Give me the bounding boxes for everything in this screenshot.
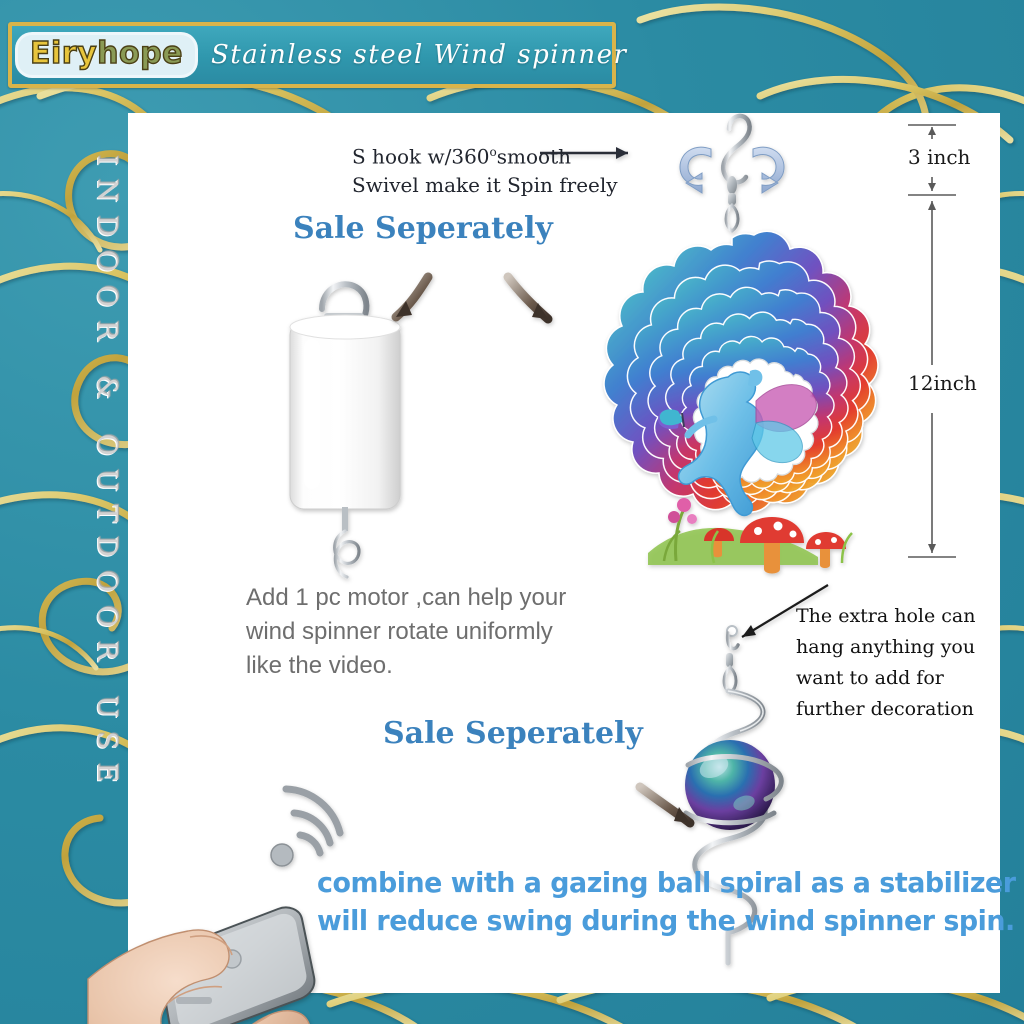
brand-banner: Eiryhope Stainless steel Wind spinner: [8, 22, 616, 88]
wind-spinner-disc: [604, 231, 889, 636]
arrow-to-spinner: [508, 277, 548, 319]
annotation-motor: Add 1 pc motor ,can help your wind spinn…: [246, 581, 646, 683]
bottom-line-1: combine with a gazing ball spiral as a s…: [317, 866, 1016, 899]
spinner-ring: [610, 240, 888, 523]
butterfly-icon: [658, 409, 684, 429]
brand-logo-part1: Eiry: [30, 37, 97, 71]
remote-button: [223, 950, 241, 968]
motor-line-1: Add 1 pc motor ,can help your: [246, 584, 566, 611]
brand-logo: Eiryhope: [18, 35, 195, 75]
annotation-extra-hole: The extra hole can hang anything you wan…: [796, 601, 1016, 725]
rotation-arrow-right: [753, 147, 784, 193]
brand-logo-part2: hope: [97, 37, 183, 71]
extra-hole-line-3: want to add for: [796, 667, 944, 689]
s-hook-line1-text: S hook w/360: [352, 145, 490, 169]
spinner-center-window: [668, 332, 844, 508]
extra-hole-line-4: further decoration: [796, 698, 974, 720]
product-infographic: Eiryhope Stainless steel Wind spinner IN…: [0, 0, 1024, 1024]
s-hook-line1-tail: smooth: [497, 145, 571, 169]
spinner-ring: [620, 255, 889, 527]
flower-cluster: [664, 498, 852, 563]
spinner-ring: [604, 231, 878, 512]
banner-subtitle: Stainless steel Wind spinner: [211, 40, 627, 70]
dimension-label-12inch: 12inch: [908, 371, 977, 395]
rotation-arrow-left: [680, 147, 711, 193]
dimension-label-3inch: 3 inch: [908, 145, 970, 169]
arrow-to-spiral: [640, 787, 690, 823]
s-hook-line2-text: Swivel make it Spin freely: [352, 173, 618, 197]
fairy-silhouette: [648, 370, 852, 574]
content-panel: INDOOR & OUTDOOR USE: [128, 113, 1000, 993]
mushroom-cluster: [704, 517, 846, 574]
extra-hole: [727, 626, 737, 636]
wireless-signal-icon: [271, 789, 340, 866]
spinner-ring: [634, 277, 881, 526]
s-hook-swivel: [723, 116, 749, 231]
gazing-ball: [685, 740, 775, 830]
sale-separately-top: Sale Seperately: [293, 211, 553, 246]
extra-hole-line-2: hang anything you: [796, 636, 975, 658]
sale-separately-bottom: Sale Seperately: [383, 716, 643, 751]
white-cylinder-motor: [290, 284, 400, 577]
annotation-s-hook: S hook w/360osmooth Swivel make it Spin …: [352, 138, 618, 199]
artwork-layer: [128, 113, 1000, 993]
arrow-to-motor: [396, 277, 428, 317]
degree-symbol: o: [490, 145, 497, 159]
motor-line-3: like the video.: [246, 652, 393, 679]
annotation-bottom: combine with a gazing ball spiral as a s…: [317, 864, 1016, 940]
motor-line-2: wind spinner rotate uniformly: [246, 618, 553, 645]
fairy-wings: [752, 385, 816, 463]
side-label: INDOOR & OUTDOOR USE: [62, 155, 122, 795]
spinner-ring: [650, 303, 865, 518]
bottom-line-2: will reduce swing during the wind spinne…: [317, 904, 1015, 937]
extra-hole-line-1: The extra hole can: [796, 605, 975, 627]
